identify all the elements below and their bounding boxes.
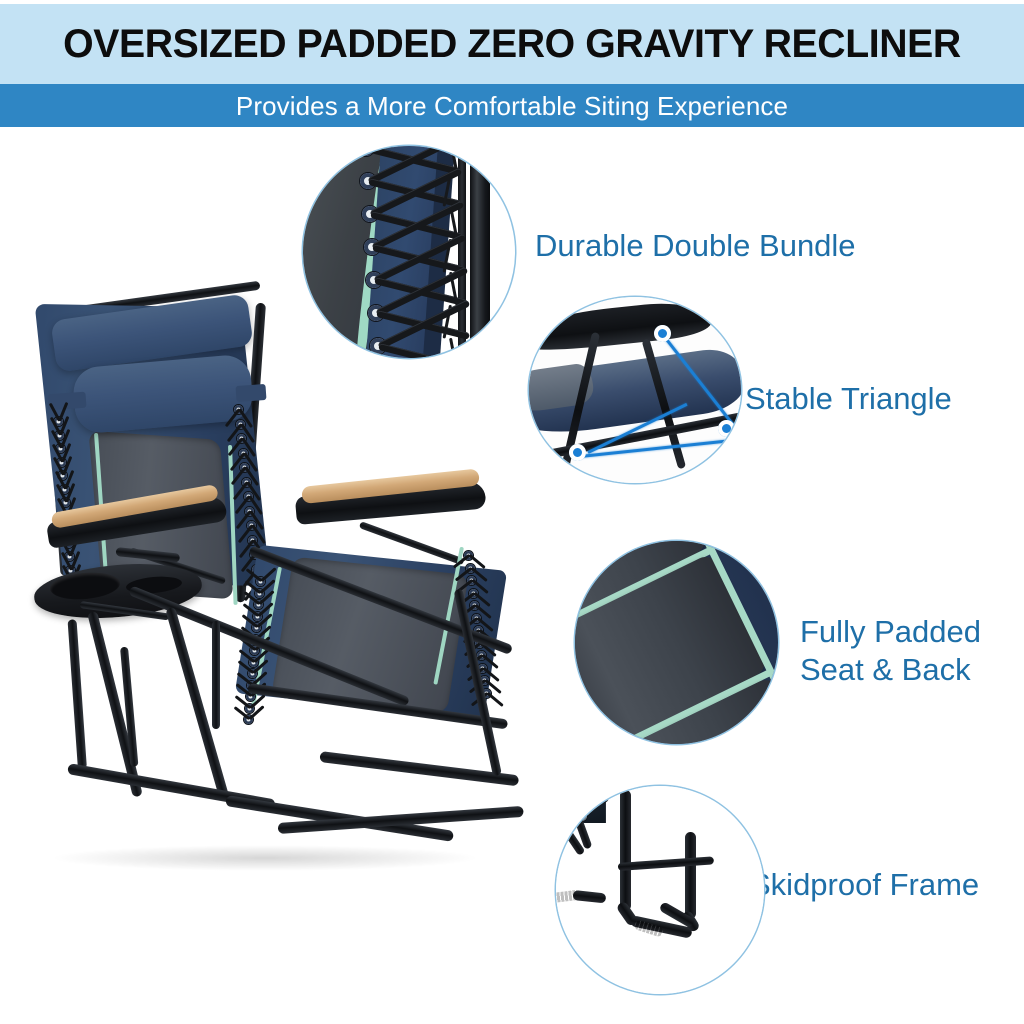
callout-label-skidproof-frame: Skidproof Frame <box>750 866 979 904</box>
page-subtitle: Provides a More Comfortable Siting Exper… <box>236 93 788 119</box>
detail-circle-padding <box>575 541 778 744</box>
callout-line: Fully Padded <box>800 613 981 651</box>
detail-circle-skidproof-frame <box>556 786 764 994</box>
page-title: OVERSIZED PADDED ZERO GRAVITY RECLINER <box>63 24 961 64</box>
frame-leg-rear-left <box>68 619 87 769</box>
frame-cross-brace-left <box>212 621 220 729</box>
ground-shadow <box>50 845 480 871</box>
bungee-cord <box>486 691 503 706</box>
callout-label-durable-double-bundle: Durable Double Bundle <box>535 227 856 265</box>
frame-leg-front-right <box>165 607 230 802</box>
triangle-node <box>718 420 735 437</box>
infographic-canvas: OVERSIZED PADDED ZERO GRAVITY RECLINER P… <box>0 0 1024 1024</box>
header-title-band: OVERSIZED PADDED ZERO GRAVITY RECLINER <box>0 4 1024 84</box>
callout-label-stable-triangle: Stable Triangle <box>745 380 952 418</box>
callout-line: Seat & Back <box>800 651 981 689</box>
callout-line: Durable Double Bundle <box>535 227 856 265</box>
skidproof-frame-image <box>556 786 764 994</box>
callout-line: Skidproof Frame <box>750 866 979 904</box>
triangle-node <box>654 325 671 342</box>
header-subtitle-band: Provides a More Comfortable Siting Exper… <box>0 84 1024 127</box>
callout-line: Stable Triangle <box>745 380 952 418</box>
product-image-zero-gravity-recliner <box>20 285 565 885</box>
callout-label-fully-padded: Fully Padded Seat & Back <box>800 613 981 689</box>
padding-image <box>575 541 778 744</box>
bolster-strap-right <box>235 384 266 402</box>
